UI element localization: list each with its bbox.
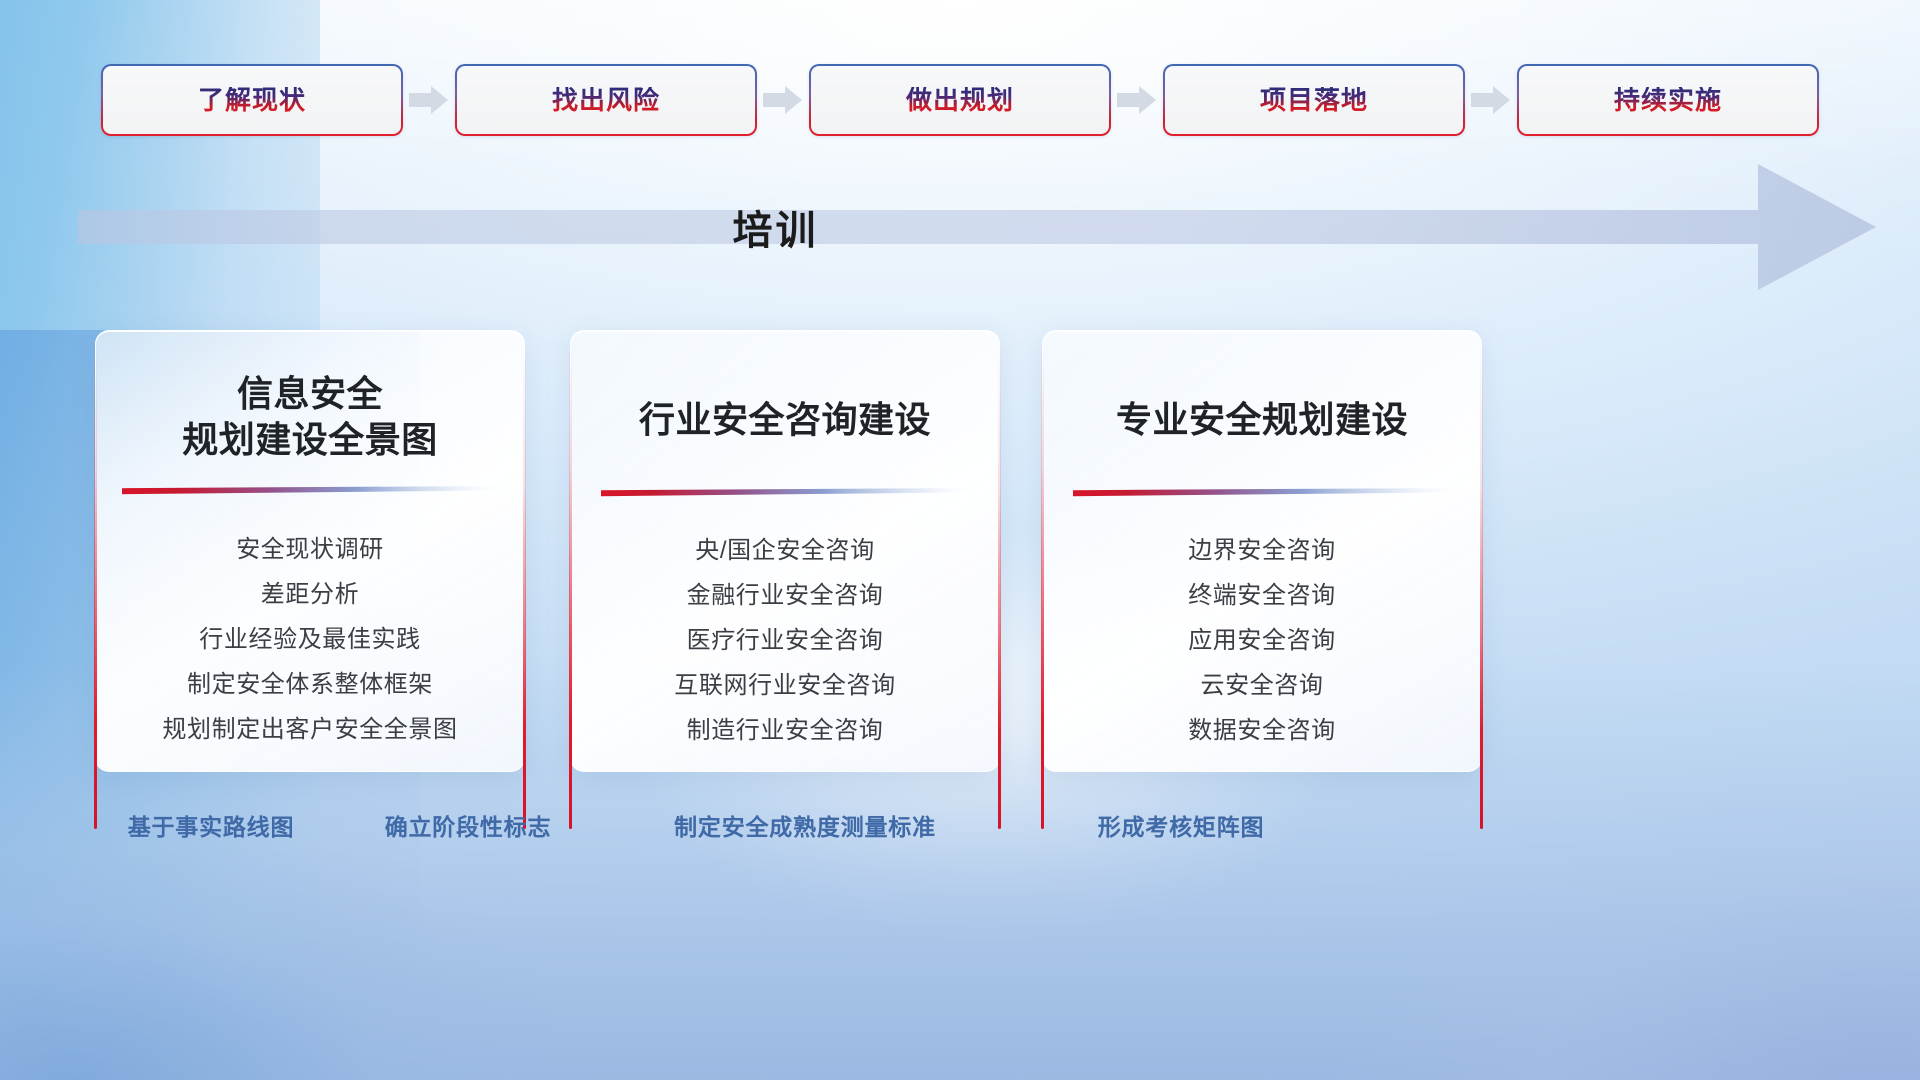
list-item: 应用安全咨询 (1043, 619, 1481, 664)
card-title: 信息安全 规划建设全景图 (96, 371, 524, 463)
process-step-4[interactable]: 持续实施 (1517, 64, 1819, 136)
card-item-list: 边界安全咨询 终端安全咨询 应用安全咨询 云安全咨询 数据安全咨询 (1043, 529, 1481, 754)
process-flow: 了解现状 找出风险 做出规划 (0, 64, 1920, 136)
footnote-1: 确立阶段性标志 (357, 805, 579, 845)
flow-arrow-icon-0 (403, 64, 455, 136)
flow-arrow-icon-3 (1465, 64, 1517, 136)
card-title-line-1: 规划建设全景图 (96, 417, 524, 463)
process-step-1-label: 找出风险 (552, 87, 660, 113)
list-item: 边界安全咨询 (1043, 529, 1481, 574)
process-step-3[interactable]: 项目落地 (1163, 64, 1465, 136)
list-item: 差距分析 (96, 573, 524, 618)
card-divider (1073, 488, 1453, 497)
list-item: 制造行业安全咨询 (571, 709, 999, 754)
process-step-2[interactable]: 做出规划 (809, 64, 1111, 136)
list-item: 制定安全体系整体框架 (96, 663, 524, 708)
training-banner: 培训 (78, 162, 1878, 292)
card-group: 信息安全 规划建设全景图 安全现状调研 (0, 330, 1920, 780)
flow-arrow-icon-1 (757, 64, 809, 136)
list-item: 云安全咨询 (1043, 664, 1481, 709)
card-item-list: 央/国企安全咨询 金融行业安全咨询 医疗行业安全咨询 互联网行业安全咨询 制造行… (571, 529, 999, 754)
process-step-0-label: 了解现状 (198, 87, 306, 113)
card-industry-security-consulting[interactable]: 行业安全咨询建设 央/国企安全咨询 金融行业安全咨询 (570, 330, 1000, 772)
card-title-line-0: 信息安全 (96, 371, 524, 417)
card-info-security-blueprint[interactable]: 信息安全 规划建设全景图 安全现状调研 (95, 330, 525, 772)
list-item: 互联网行业安全咨询 (571, 664, 999, 709)
list-item: 金融行业安全咨询 (571, 574, 999, 619)
list-item: 行业经验及最佳实践 (96, 618, 524, 663)
banner-label: 培训 (78, 162, 1473, 292)
list-item: 数据安全咨询 (1043, 709, 1481, 754)
process-step-4-body: 持续实施 (1519, 66, 1817, 134)
card-divider (601, 488, 971, 497)
footnote-row: 基于事实路线图 确立阶段性标志 制定安全成熟度测量标准 形成考核矩阵图 (0, 805, 1920, 865)
process-step-2-label: 做出规划 (906, 87, 1014, 113)
process-step-3-body: 项目落地 (1165, 66, 1463, 134)
footnote-3: 形成考核矩阵图 (1036, 805, 1326, 845)
process-step-4-label: 持续实施 (1614, 87, 1722, 113)
footnote-2: 制定安全成熟度测量标准 (630, 805, 980, 845)
list-item: 终端安全咨询 (1043, 574, 1481, 619)
flow-arrow-icon-2 (1111, 64, 1163, 136)
card-title-line-0: 行业安全咨询建设 (571, 397, 999, 443)
list-item: 规划制定出客户安全全景图 (96, 708, 524, 753)
process-step-1[interactable]: 找出风险 (455, 64, 757, 136)
process-step-1-body: 找出风险 (457, 66, 755, 134)
list-item: 医疗行业安全咨询 (571, 619, 999, 664)
process-step-2-body: 做出规划 (811, 66, 1109, 134)
card-title: 行业安全咨询建设 (571, 397, 999, 443)
card-item-list: 安全现状调研 差距分析 行业经验及最佳实践 制定安全体系整体框架 规划制定出客户… (96, 528, 524, 753)
process-step-3-label: 项目落地 (1260, 87, 1368, 113)
footnote-0: 基于事实路线图 (100, 805, 322, 845)
card-professional-security-planning[interactable]: 专业安全规划建设 边界安全咨询 终端安全咨询 (1042, 330, 1482, 772)
list-item: 央/国企安全咨询 (571, 529, 999, 574)
card-title: 专业安全规划建设 (1043, 397, 1481, 443)
process-step-0-body: 了解现状 (103, 66, 401, 134)
card-divider (122, 486, 500, 495)
process-step-0[interactable]: 了解现状 (101, 64, 403, 136)
card-title-line-0: 专业安全规划建设 (1043, 397, 1481, 443)
list-item: 安全现状调研 (96, 528, 524, 573)
